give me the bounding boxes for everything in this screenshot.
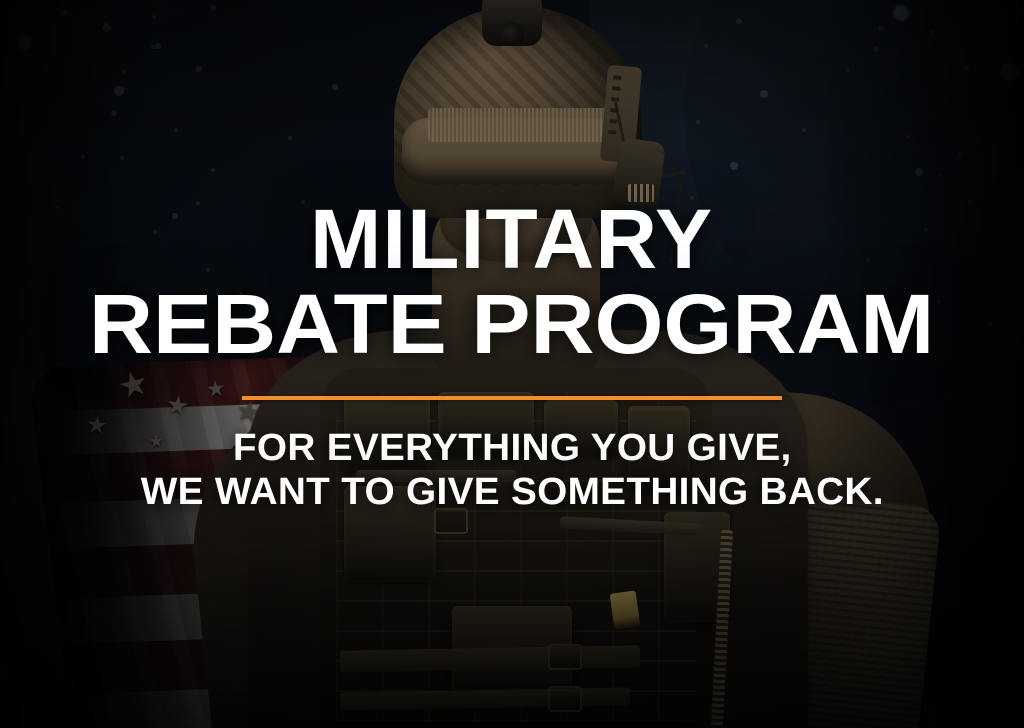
soldier-figure (0, 0, 1024, 728)
helmet-id-tag (628, 184, 654, 202)
gear-pouch (544, 400, 618, 456)
gear-buckle (548, 644, 582, 670)
helmet-velcro-strip (428, 108, 610, 142)
yellow-accent-tab (610, 590, 641, 629)
gear-pouch (344, 396, 430, 470)
nvg-knob-icon (500, 22, 524, 46)
military-rebate-banner: ★★★★★★★ MILITARY REBATE PROGRAM (0, 0, 1024, 728)
gear-buckle (434, 508, 468, 534)
gear-strap (356, 470, 516, 480)
gear-pouch (628, 406, 690, 490)
gear-buckle (548, 686, 582, 712)
gear-pouch (438, 392, 534, 456)
gear-pouch (344, 486, 436, 582)
